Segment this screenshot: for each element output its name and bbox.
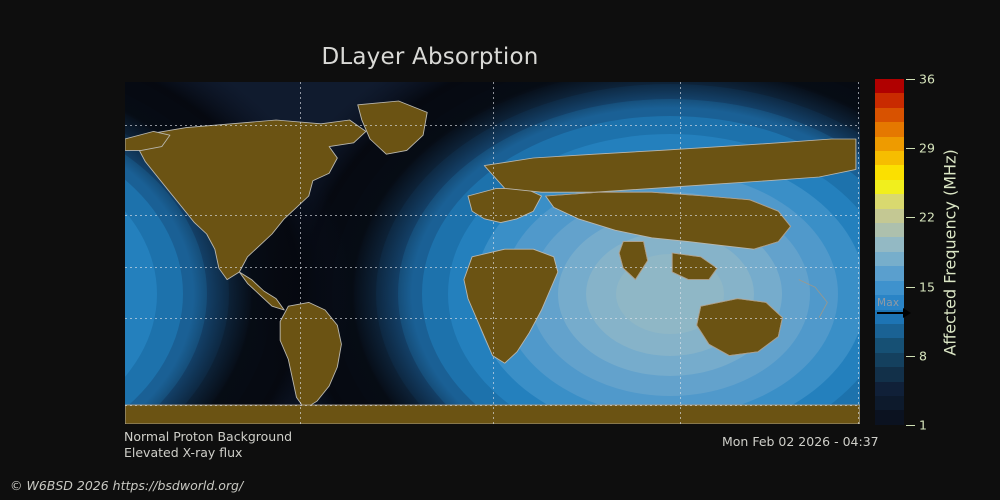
colorbar-band: [875, 396, 904, 410]
colorbar-band: [875, 382, 904, 396]
colorbar-axis-title-text: Affected Frequency (MHz): [941, 149, 960, 355]
map-gridlines: [125, 82, 860, 424]
colorbar-band: [875, 353, 904, 367]
colorbar-tick-label: 22: [919, 210, 935, 225]
max-marker-label: Max: [877, 297, 899, 309]
gridline-lon-0: [493, 82, 494, 424]
colorbar-band: [875, 137, 904, 151]
colorbar-band: [875, 122, 904, 136]
colorbar-tick-mark: [906, 287, 915, 288]
xray-status: Elevated X-ray flux: [124, 445, 292, 461]
status-captions: Normal Proton Background Elevated X-ray …: [124, 429, 292, 461]
colorbar-band: [875, 223, 904, 237]
colorbar-band: [875, 338, 904, 352]
gridline-lon-120: [858, 82, 859, 424]
colorbar-band: [875, 180, 904, 194]
colorbar-tick-label: 1: [919, 418, 927, 433]
timestamp: Mon Feb 02 2026 - 04:37: [722, 434, 879, 449]
colorbar-tick-mark: [906, 79, 915, 80]
colorbar-band: [875, 252, 904, 266]
colorbar-tick-mark: [906, 356, 915, 357]
colorbar-band: [875, 367, 904, 381]
colorbar-band: [875, 410, 904, 424]
colorbar-tick-mark: [906, 148, 915, 149]
colorbar-tick-label: 36: [919, 72, 935, 87]
colorbar-band: [875, 324, 904, 338]
colorbar-tick-mark: [906, 425, 915, 426]
colorbar-band: [875, 237, 904, 251]
colorbar-band: [875, 108, 904, 122]
page-title: DLayer Absorption: [0, 44, 860, 70]
gridline-lon-60: [680, 82, 681, 424]
colorbar-tick-label: 8: [919, 348, 927, 363]
max-marker: Max: [877, 298, 917, 322]
screenshot-root: DLayer Absorption: [0, 0, 1000, 500]
colorbar-tick-label: 29: [919, 141, 935, 156]
colorbar-tick-mark: [906, 217, 915, 218]
footer-credit: © W6BSD 2026 https://bsdworld.org/: [10, 478, 243, 493]
max-marker-arrow-head: [903, 308, 911, 318]
colorbar-band: [875, 281, 904, 295]
proton-status: Normal Proton Background: [124, 429, 292, 445]
colorbar-band: [875, 93, 904, 107]
colorbar-axis-title: Affected Frequency (MHz): [938, 79, 962, 425]
colorbar-tick-label: 15: [919, 279, 935, 294]
colorbar-band: [875, 194, 904, 208]
world-map[interactable]: [125, 82, 860, 424]
colorbar-band: [875, 266, 904, 280]
max-marker-arrow-line: [877, 312, 905, 314]
colorbar-band: [875, 165, 904, 179]
colorbar-band: [875, 79, 904, 93]
colorbar-band: [875, 209, 904, 223]
affected-frequency-colorbar[interactable]: [875, 79, 904, 425]
gridline-lon-m120: [300, 82, 301, 424]
colorbar-band: [875, 151, 904, 165]
